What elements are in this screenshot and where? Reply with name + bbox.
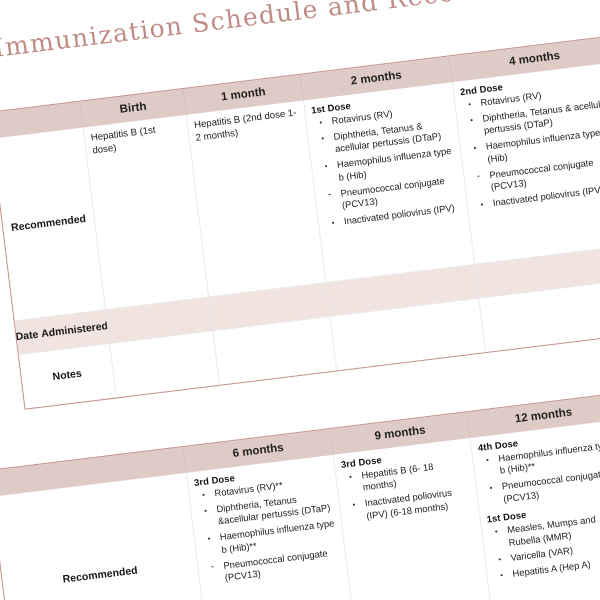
table2-grid: 6 months 9 months 12 months Recommended … [0,394,600,600]
immunization-table-birth-to-4-months: Birth 1 month 2 months 4 months Recommen… [0,35,600,410]
table1-rowlabel-notes: Notes [19,344,117,409]
vaccine-plain-text: Hepatitis B (1st dose) [89,119,185,160]
vaccine-plain-text: Hepatitis B (2nd dose 1-2 months) [192,105,302,148]
vaccine-list: Rotavirus (RV) Diphtheria, Tetanus & ace… [460,80,600,212]
page-canvas: Immunization Schedule and Record Birth 1… [0,0,600,600]
table1-cell-1month-recommended: Hepatitis B (2nd dose 1-2 months) [187,100,327,297]
table1-cell-2months-recommended: 1st Dose Rotavirus (RV) Diphtheria, Teta… [304,82,475,283]
table1-cell-4months-recommended: 2nd Dose Rotavirus (RV) Diphtheria, Teta… [453,62,600,265]
vaccine-list: Rotavirus (RV)** Diphtheria, Tetanus &ac… [194,473,342,586]
table2-cell-12months-recommended: 4th Dose Haemophilus influenza type b (H… [471,420,600,600]
page-title-text: Immunization Schedule and Record [0,0,487,63]
vaccine-list: Rotavirus (RV) Diphtheria, Tetanus & ace… [311,101,463,230]
table2-cell-9months-recommended: 3rd Dose Hepatitis B (6- 18 months) Inac… [334,438,493,600]
table1-grid: Birth 1 month 2 months 4 months Recommen… [0,36,600,409]
table2-rowlabel-recommended: Recommended [0,473,209,600]
table1-cell-birth-notes[interactable] [110,331,220,397]
immunization-table-6-to-12-months: 6 months 9 months 12 months Recommended … [0,393,600,600]
date-administered-line2: Administered [41,320,109,341]
date-administered-line1: Date [15,329,39,345]
table2-cell-6months-recommended: 3rd Dose Rotavirus (RV)** Diphtheria, Te… [187,455,356,600]
